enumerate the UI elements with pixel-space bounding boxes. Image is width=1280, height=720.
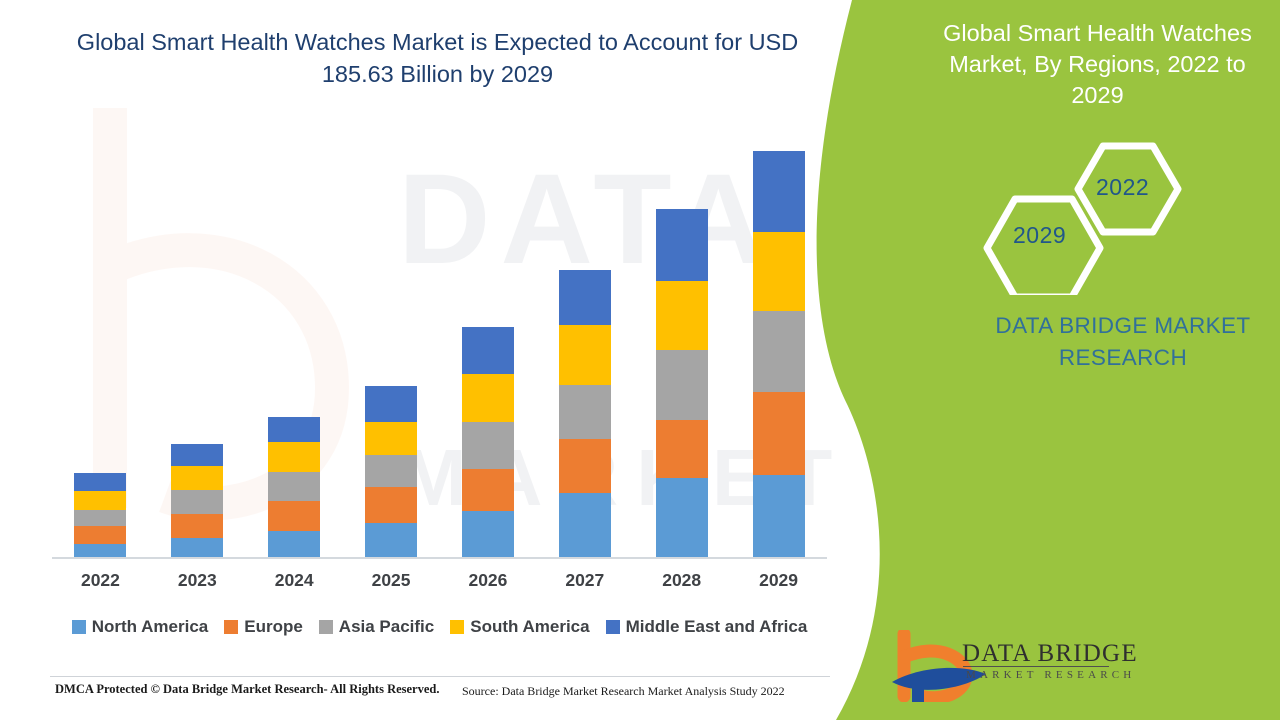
bar-column bbox=[149, 120, 245, 558]
legend-item[interactable]: Europe bbox=[224, 617, 303, 637]
bar-segment[interactable] bbox=[268, 501, 320, 531]
bar-segment[interactable] bbox=[171, 444, 223, 466]
bar-stack[interactable] bbox=[74, 473, 126, 558]
bar-segment[interactable] bbox=[74, 473, 126, 492]
bar-segment[interactable] bbox=[365, 487, 417, 523]
chart-legend: North AmericaEuropeAsia PacificSouth Ame… bbox=[52, 617, 827, 637]
legend-item[interactable]: South America bbox=[450, 617, 589, 637]
bar-stack[interactable] bbox=[268, 417, 320, 558]
bar-segment[interactable] bbox=[74, 510, 126, 526]
bar-column bbox=[731, 120, 827, 558]
x-axis-tick-label: 2023 bbox=[149, 570, 245, 591]
panel-title: Global Smart Health Watches Market, By R… bbox=[925, 18, 1270, 111]
legend-swatch bbox=[606, 620, 620, 634]
bar-segment[interactable] bbox=[268, 531, 320, 558]
x-axis-labels: 20222023202420252026202720282029 bbox=[52, 570, 827, 591]
bar-segment[interactable] bbox=[74, 544, 126, 558]
bar-segment[interactable] bbox=[365, 523, 417, 558]
panel-brand-name: DATA BRIDGE MARKET RESEARCH bbox=[958, 310, 1280, 374]
legend-label: Asia Pacific bbox=[339, 617, 434, 637]
x-axis-tick-label: 2022 bbox=[52, 570, 148, 591]
bar-column bbox=[634, 120, 730, 558]
bar-stack[interactable] bbox=[462, 327, 514, 558]
bar-segment[interactable] bbox=[74, 526, 126, 544]
bar-segment[interactable] bbox=[74, 491, 126, 510]
legend-label: Middle East and Africa bbox=[626, 617, 808, 637]
bar-segment[interactable] bbox=[656, 209, 708, 281]
bar-segment[interactable] bbox=[656, 478, 708, 558]
bar-segment[interactable] bbox=[365, 386, 417, 422]
x-axis-tick-label: 2024 bbox=[246, 570, 342, 591]
bar-segment[interactable] bbox=[753, 392, 805, 475]
legend-item[interactable]: Middle East and Africa bbox=[606, 617, 808, 637]
bar-segment[interactable] bbox=[365, 455, 417, 487]
bar-segment[interactable] bbox=[753, 232, 805, 311]
bar-segment[interactable] bbox=[753, 151, 805, 232]
bar-segment[interactable] bbox=[462, 327, 514, 374]
x-axis-tick-label: 2025 bbox=[343, 570, 439, 591]
bar-segment[interactable] bbox=[171, 514, 223, 538]
legend-item[interactable]: North America bbox=[72, 617, 209, 637]
hexagon-shapes bbox=[975, 140, 1205, 295]
bar-segment[interactable] bbox=[656, 350, 708, 420]
bar-stack[interactable] bbox=[753, 151, 805, 558]
x-axis-tick-label: 2026 bbox=[440, 570, 536, 591]
hexagon-2022-label: 2022 bbox=[1096, 174, 1149, 201]
infographic-page: DATA BRIDGE MARKET RESEARCH Global Smart… bbox=[0, 0, 1280, 720]
logo-subtitle: MARKET RESEARCH bbox=[966, 669, 1135, 681]
bar-segment[interactable] bbox=[559, 385, 611, 439]
logo-name: DATA BRIDGE bbox=[962, 640, 1138, 668]
bar-segment[interactable] bbox=[268, 442, 320, 472]
legend-swatch bbox=[224, 620, 238, 634]
hexagon-group: 2022 2029 bbox=[975, 140, 1205, 295]
bar-segment[interactable] bbox=[753, 475, 805, 558]
bar-stack[interactable] bbox=[656, 209, 708, 558]
legend-item[interactable]: Asia Pacific bbox=[319, 617, 434, 637]
footer-copyright: DMCA Protected © Data Bridge Market Rese… bbox=[55, 682, 440, 697]
bar-segment[interactable] bbox=[559, 439, 611, 494]
x-axis-line bbox=[52, 557, 827, 559]
bar-group bbox=[52, 120, 827, 558]
bar-column bbox=[440, 120, 536, 558]
bar-segment[interactable] bbox=[462, 469, 514, 511]
footer-source: Source: Data Bridge Market Research Mark… bbox=[462, 684, 785, 699]
logo-divider bbox=[963, 666, 1109, 667]
bar-segment[interactable] bbox=[462, 511, 514, 558]
legend-swatch bbox=[72, 620, 86, 634]
bar-segment[interactable] bbox=[559, 325, 611, 385]
bar-segment[interactable] bbox=[656, 281, 708, 350]
bar-segment[interactable] bbox=[365, 422, 417, 455]
legend-label: South America bbox=[470, 617, 589, 637]
bar-segment[interactable] bbox=[753, 311, 805, 392]
bar-segment[interactable] bbox=[171, 490, 223, 514]
bar-segment[interactable] bbox=[171, 466, 223, 490]
chart-title: Global Smart Health Watches Market is Ex… bbox=[60, 26, 815, 91]
bar-segment[interactable] bbox=[559, 493, 611, 558]
legend-swatch bbox=[319, 620, 333, 634]
bar-segment[interactable] bbox=[268, 417, 320, 442]
x-axis-tick-label: 2029 bbox=[731, 570, 827, 591]
bar-column bbox=[246, 120, 342, 558]
bar-stack[interactable] bbox=[171, 444, 223, 558]
legend-label: North America bbox=[92, 617, 209, 637]
bar-segment[interactable] bbox=[462, 422, 514, 469]
bar-segment[interactable] bbox=[656, 420, 708, 478]
footer-divider bbox=[50, 676, 830, 677]
x-axis-tick-label: 2028 bbox=[634, 570, 730, 591]
bar-segment[interactable] bbox=[462, 374, 514, 422]
bar-segment[interactable] bbox=[171, 538, 223, 558]
bar-column bbox=[537, 120, 633, 558]
chart-plot-area bbox=[52, 120, 827, 558]
legend-label: Europe bbox=[244, 617, 303, 637]
bar-column bbox=[343, 120, 439, 558]
bar-segment[interactable] bbox=[268, 472, 320, 502]
bar-segment[interactable] bbox=[559, 270, 611, 325]
hexagon-2029-label: 2029 bbox=[1013, 222, 1066, 249]
bar-column bbox=[52, 120, 148, 558]
x-axis-tick-label: 2027 bbox=[537, 570, 633, 591]
bar-stack[interactable] bbox=[559, 270, 611, 558]
bar-stack[interactable] bbox=[365, 386, 417, 558]
legend-swatch bbox=[450, 620, 464, 634]
